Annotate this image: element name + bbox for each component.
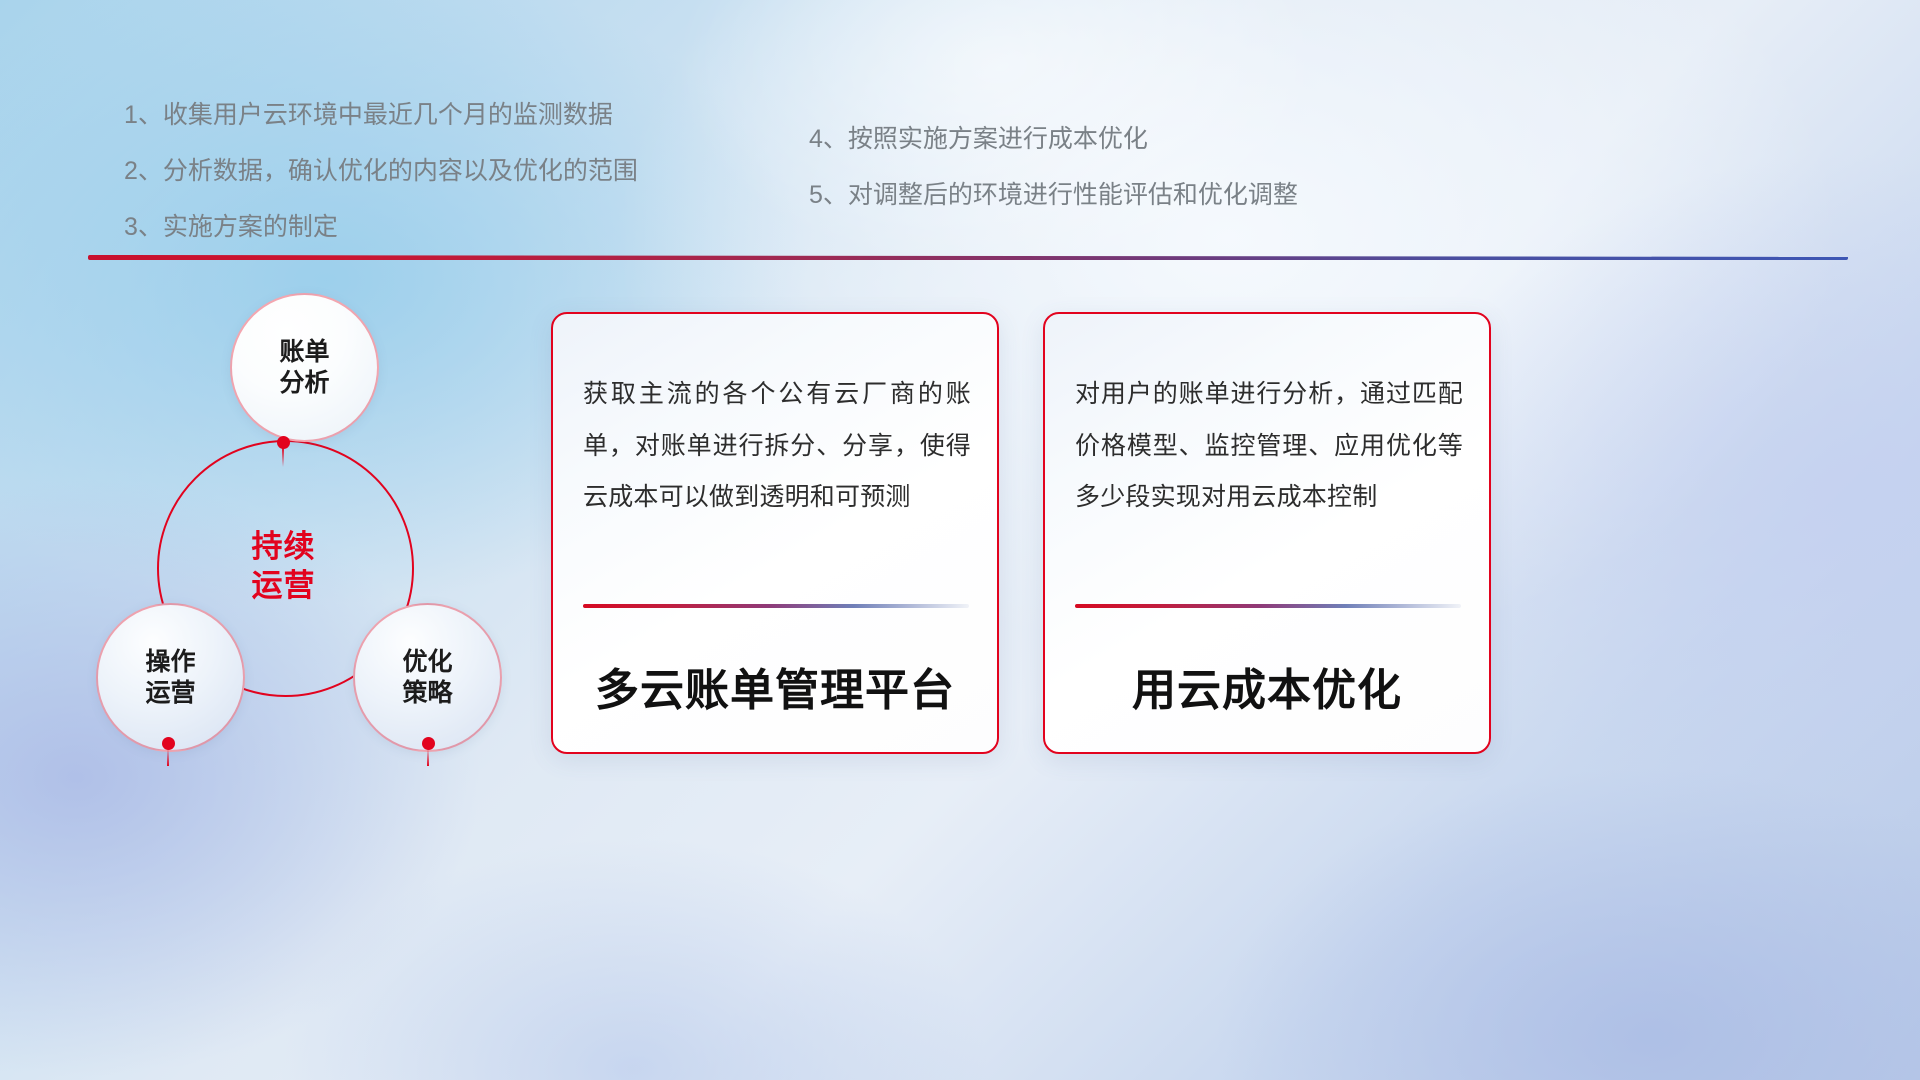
venn-bubble-left-line1: 操作 <box>145 647 195 678</box>
venn-center-label-line1: 持续 <box>252 528 316 567</box>
venn-bubble-top-line2: 分析 <box>279 368 329 399</box>
venn-bubble-right-line1: 优化 <box>402 647 452 678</box>
venn-bubble-top-line1: 账单 <box>279 337 329 368</box>
steps-list-right: 4、按照实施方案进行成本优化 5、对调整后的环境进行性能评估和优化调整 <box>809 127 1298 239</box>
feature-card-2-rule <box>1075 604 1461 608</box>
venn-bubble-left-line2: 运营 <box>145 678 195 709</box>
feature-card-1-body: 获取主流的各个公有云厂商的账单，对账单进行拆分、分享，使得云成本可以做到透明和可… <box>583 369 971 524</box>
venn-center-label-line2: 运营 <box>252 567 316 606</box>
venn-bubble-right-line2: 策略 <box>402 678 452 709</box>
feature-card-cost-optimization[interactable]: 对用户的账单进行分析，通过匹配价格模型、监控管理、应用优化等多少段实现对用云成本… <box>1043 312 1491 754</box>
venn-node-dot-left <box>162 737 175 750</box>
step-item-3: 3、实施方案的制定 <box>124 215 638 240</box>
venn-node-dot-right <box>422 737 435 750</box>
step-item-4: 4、按照实施方案进行成本优化 <box>809 127 1298 152</box>
feature-card-2-body: 对用户的账单进行分析，通过匹配价格模型、监控管理、应用优化等多少段实现对用云成本… <box>1075 369 1463 524</box>
venn-bubble-optimization-strategy[interactable]: 优化 策略 <box>353 603 502 752</box>
feature-card-2-title: 用云成本优化 <box>1045 654 1489 718</box>
step-item-5: 5、对调整后的环境进行性能评估和优化调整 <box>809 183 1298 208</box>
venn-diagram: 持续 运营 账单 分析 操作 运营 优化 策略 <box>78 285 538 775</box>
steps-list-left: 1、收集用户云环境中最近几个月的监测数据 2、分析数据，确认优化的内容以及优化的… <box>124 103 638 271</box>
step-item-2: 2、分析数据，确认优化的内容以及优化的范围 <box>124 159 638 184</box>
venn-bubble-bill-analysis[interactable]: 账单 分析 <box>230 293 379 442</box>
venn-connector-tick-left <box>167 748 169 766</box>
step-item-1: 1、收集用户云环境中最近几个月的监测数据 <box>124 103 638 128</box>
venn-connector-tick-right <box>427 748 429 766</box>
venn-node-dot-top <box>277 436 290 449</box>
venn-bubble-operations[interactable]: 操作 运营 <box>96 603 245 752</box>
feature-card-bill-platform[interactable]: 获取主流的各个公有云厂商的账单，对账单进行拆分、分享，使得云成本可以做到透明和可… <box>551 312 999 754</box>
venn-connector-tick-top <box>282 447 284 467</box>
feature-card-1-title: 多云账单管理平台 <box>553 654 997 718</box>
feature-card-1-rule <box>583 604 969 608</box>
